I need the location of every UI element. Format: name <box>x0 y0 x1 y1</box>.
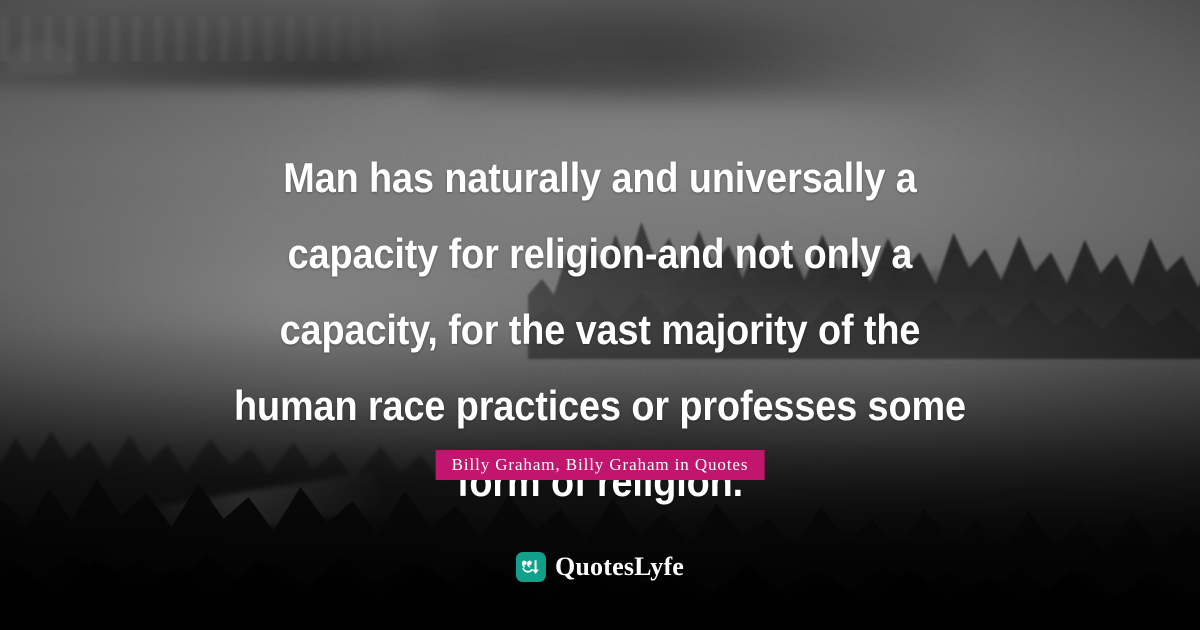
quote-smiley-icon <box>516 552 546 582</box>
brand-name: QuotesLyfe <box>555 553 684 581</box>
attribution-badge: Billy Graham, Billy Graham in Quotes <box>436 450 765 480</box>
attribution-label: Billy Graham, Billy Graham in Quotes <box>452 455 749 474</box>
brand-logo[interactable]: QuotesLyfe <box>516 552 684 582</box>
quote-card: Man has naturally and universally a capa… <box>0 0 1200 630</box>
